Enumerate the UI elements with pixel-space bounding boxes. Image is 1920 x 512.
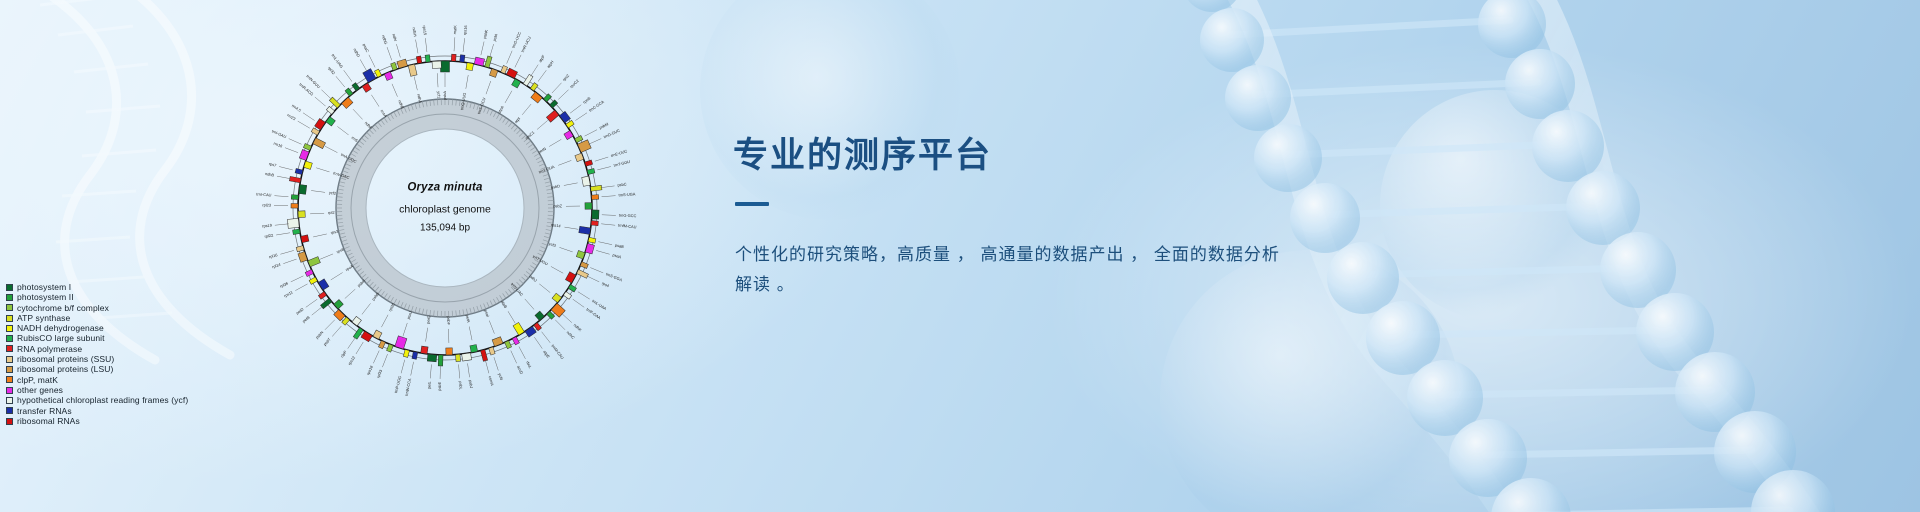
banner-description: 个性化的研究策略，高质量 ， 高通量的数据产出 ， 全面的数据分析解读 。 [735, 240, 1295, 300]
svg-text:trnR-ACG: trnR-ACG [298, 82, 314, 97]
svg-text:psbN: psbN [314, 330, 324, 340]
legend-item-label: ribosomal RNAs [17, 416, 80, 426]
genome-center-caption: Oryza minuta chloroplast genome 135,094 … [345, 180, 545, 237]
svg-text:psbM: psbM [598, 121, 609, 130]
legend-color-swatch [6, 315, 13, 322]
svg-text:trnG-UCC: trnG-UCC [511, 31, 522, 49]
svg-text:petA: petA [465, 314, 472, 323]
legend-item: RNA polymerase [6, 344, 188, 354]
legend-color-swatch [6, 294, 13, 301]
svg-text:ndhJ: ndhJ [528, 274, 538, 283]
svg-text:rps11: rps11 [283, 289, 294, 298]
banner-copy: 专业的测序平台 个性化的研究策略，高质量 ， 高通量的数据产出 ， 全面的数据分… [733, 136, 1353, 300]
svg-text:rpl14: rpl14 [271, 262, 282, 270]
svg-text:psbZ: psbZ [553, 203, 562, 208]
legend-item: other genes [6, 385, 188, 395]
svg-text:trnS-GGA: trnS-GGA [605, 271, 623, 282]
svg-text:rpl16: rpl16 [268, 252, 278, 259]
svg-text:psbJ: psbJ [468, 380, 474, 389]
svg-text:trnG-GCC: trnG-GCC [619, 213, 637, 219]
legend-color-swatch [6, 366, 13, 373]
svg-text:rpl33: rpl33 [375, 369, 383, 379]
svg-text:rpl23: rpl23 [262, 202, 271, 207]
svg-text:psbF: psbF [446, 316, 451, 325]
svg-text:rpl22: rpl22 [264, 233, 273, 239]
legend-item-label: photosystem I [17, 282, 71, 292]
legend-color-swatch [6, 418, 13, 425]
svg-text:trnC-GCA: trnC-GCA [588, 99, 605, 113]
svg-text:rps7: rps7 [268, 161, 277, 168]
svg-text:accD: accD [516, 365, 524, 375]
legend-item: cytochrome b/f complex [6, 303, 188, 313]
svg-text:ndhC: ndhC [566, 330, 576, 340]
svg-text:ndhB: ndhB [265, 171, 275, 178]
legend-item: hypothetical chloroplast reading frames … [6, 395, 188, 405]
legend-item-label: cytochrome b/f complex [17, 303, 109, 313]
svg-text:psbA: psbA [442, 91, 447, 100]
svg-text:psaB: psaB [615, 242, 625, 249]
svg-text:psaI: psaI [483, 309, 490, 318]
legend-color-swatch [6, 407, 13, 414]
legend-color-swatch [6, 387, 13, 394]
legend-item-label: NADH dehydrogenase [17, 323, 104, 333]
svg-text:psbE: psbE [437, 381, 442, 390]
legend-item-label: RubisCO large subunit [17, 333, 105, 343]
svg-text:rps15: rps15 [422, 25, 428, 35]
svg-text:petD: petD [295, 307, 305, 316]
svg-text:trnP-UGG: trnP-UGG [393, 375, 402, 393]
genome-species-name: Oryza minuta [345, 180, 545, 198]
svg-text:rps19: rps19 [262, 223, 272, 229]
svg-text:petB: petB [301, 314, 311, 323]
svg-text:psaA: psaA [612, 252, 622, 259]
svg-text:psbT: psbT [322, 336, 332, 346]
legend-item-label: ribosomal proteins (SSU) [17, 354, 114, 364]
svg-text:ndhH: ndhH [411, 27, 418, 37]
legend-color-swatch [6, 397, 13, 404]
svg-text:rbcL: rbcL [525, 360, 533, 370]
legend-color-swatch [6, 335, 13, 342]
legend-item: photosystem I [6, 282, 188, 292]
svg-text:ndhI: ndhI [391, 33, 398, 42]
svg-text:ndhK: ndhK [573, 322, 583, 332]
hero-banner: psbAmatKrps16trnQ-UUGpsbKpsbItrnS-GCUtrn… [0, 0, 1920, 512]
svg-text:ycf3: ycf3 [548, 241, 556, 248]
svg-text:atpI: atpI [513, 116, 521, 124]
svg-text:trnS-UGA: trnS-UGA [618, 191, 636, 197]
svg-text:psbK: psbK [482, 29, 489, 39]
svg-text:ndhG: ndhG [381, 34, 389, 45]
svg-text:ndhD: ndhD [352, 47, 361, 58]
legend-color-swatch [6, 284, 13, 291]
svg-text:rps12: rps12 [347, 355, 356, 366]
legend-item-label: hypothetical chloroplast reading frames … [17, 395, 188, 405]
svg-text:psbL: psbL [458, 381, 464, 391]
svg-text:petG: petG [425, 315, 431, 324]
svg-text:trnT-GGU: trnT-GGU [613, 159, 631, 168]
svg-text:rpoB: rpoB [582, 95, 592, 104]
legend-item-label: clpP, matK [17, 375, 58, 385]
genome-subtitle: chloroplast genome [345, 202, 545, 218]
title-underline-rule [735, 202, 769, 206]
svg-text:rrn4.5: rrn4.5 [291, 103, 302, 113]
svg-text:rpl36: rpl36 [279, 280, 289, 288]
svg-text:trnR-UCU: trnR-UCU [520, 35, 532, 53]
svg-text:ycf4: ycf4 [497, 372, 504, 381]
svg-text:trnM-CAU: trnM-CAU [550, 343, 565, 360]
svg-text:cemA: cemA [488, 375, 495, 386]
svg-text:atpE: atpE [542, 349, 551, 359]
legend-item-label: ATP synthase [17, 313, 70, 323]
legend-item: photosystem II [6, 292, 188, 302]
svg-text:trnI-CAU: trnI-CAU [256, 191, 272, 197]
legend-item: transfer RNAs [6, 406, 188, 416]
svg-text:psbD: psbD [550, 183, 560, 190]
svg-text:atpB: atpB [500, 300, 509, 310]
svg-text:rrn23: rrn23 [286, 112, 296, 121]
svg-text:trnE-UUC: trnE-UUC [610, 148, 628, 158]
svg-text:psaC: psaC [362, 43, 371, 54]
legend-item-label: transfer RNAs [17, 406, 72, 416]
legend-item: ATP synthase [6, 313, 188, 323]
svg-text:rps18: rps18 [365, 365, 374, 376]
svg-text:rps3: rps3 [330, 229, 338, 236]
svg-text:ycf1: ycf1 [436, 91, 441, 98]
svg-text:trnfM-CAU: trnfM-CAU [618, 223, 637, 230]
genome-length: 135,094 bp [345, 221, 545, 237]
legend-color-swatch [6, 345, 13, 352]
svg-text:trnD-GUC: trnD-GUC [603, 128, 621, 140]
legend-item-label: photosystem II [17, 292, 74, 302]
svg-text:atpF: atpF [537, 53, 546, 63]
svg-text:psaJ: psaJ [406, 310, 413, 319]
gene-class-legend: photosystem Iphotosystem IIcytochrome b/… [6, 282, 188, 426]
svg-text:trnF-GAA: trnF-GAA [585, 307, 602, 321]
legend-color-swatch [6, 325, 13, 332]
legend-item-label: other genes [17, 385, 63, 395]
svg-text:atpH: atpH [546, 59, 555, 69]
svg-text:trnI-GAU: trnI-GAU [271, 128, 287, 139]
legend-item-label: ribosomal proteins (LSU) [17, 364, 113, 374]
svg-text:petL: petL [426, 380, 432, 389]
legend-item: ribosomal RNAs [6, 416, 188, 426]
svg-text:rpl32: rpl32 [327, 65, 336, 75]
svg-text:rps2: rps2 [561, 73, 570, 82]
legend-color-swatch [6, 376, 13, 383]
svg-text:rpoC2: rpoC2 [569, 78, 580, 89]
svg-text:rps16: rps16 [462, 25, 468, 35]
svg-text:petN: petN [537, 146, 547, 155]
legend-color-swatch [6, 304, 13, 311]
svg-text:matK: matK [452, 25, 458, 35]
svg-text:psbC: psbC [617, 181, 627, 187]
legend-item: NADH dehydrogenase [6, 323, 188, 333]
svg-text:trnW-CCA: trnW-CCA [404, 377, 413, 396]
chloroplast-genome-map: psbAmatKrps16trnQ-UUGpsbKpsbItrnS-GCUtrn… [243, 6, 647, 410]
svg-text:rps4: rps4 [601, 280, 611, 288]
legend-item: ribosomal proteins (LSU) [6, 364, 188, 374]
legend-item-label: RNA polymerase [17, 344, 82, 354]
legend-item: ribosomal proteins (SSU) [6, 354, 188, 364]
legend-item: RubisCO large subunit [6, 333, 188, 343]
legend-color-swatch [6, 356, 13, 363]
svg-text:rpl2: rpl2 [328, 210, 335, 215]
svg-text:ycf2: ycf2 [329, 190, 337, 196]
legend-item: clpP, matK [6, 375, 188, 385]
svg-text:clpP: clpP [339, 349, 348, 358]
svg-text:psbI: psbI [492, 33, 499, 41]
page-title: 专业的测序平台 [733, 136, 1353, 176]
svg-text:atpA: atpA [496, 105, 505, 115]
svg-text:rrn16: rrn16 [273, 141, 283, 149]
